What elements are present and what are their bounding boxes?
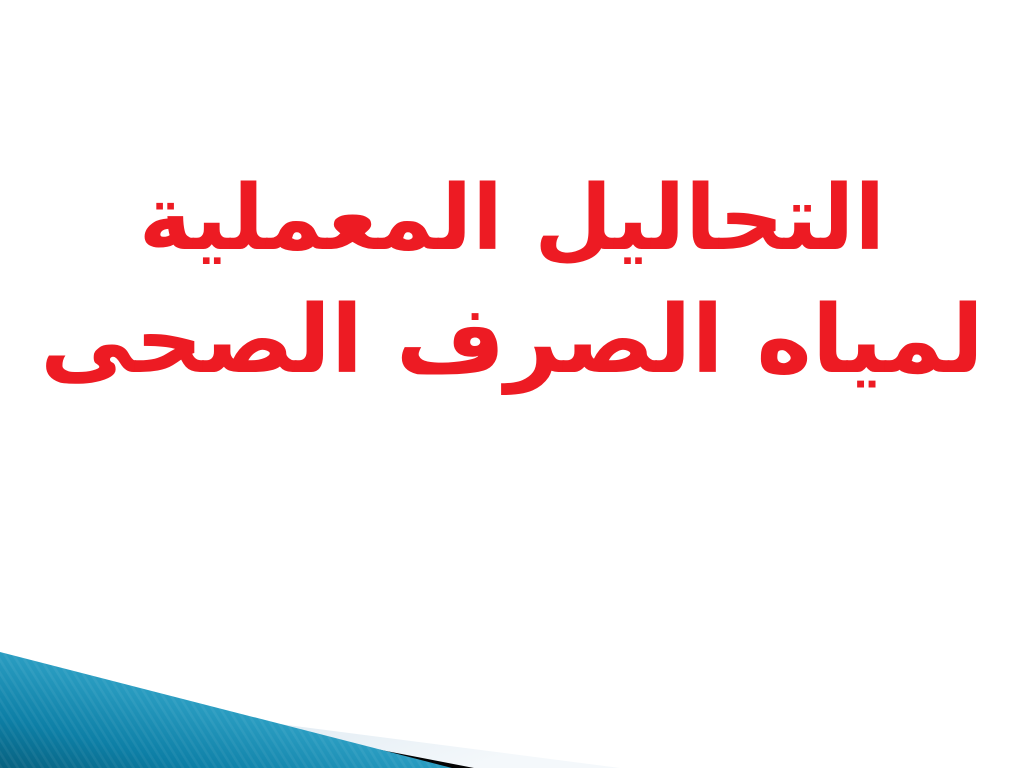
slide-title: التحاليل المعملية لمياه الصرف الصحى (0, 160, 1024, 403)
black-wedge (0, 676, 474, 768)
bottom-left-decoration (0, 636, 700, 768)
title-line-2: لمياه الصرف الصحى (0, 279, 1024, 403)
teal-wedge (0, 652, 452, 768)
title-line-1: التحاليل المعملية (0, 160, 1024, 279)
slide-canvas: التحاليل المعملية لمياه الصرف الصحى (0, 0, 1024, 768)
pale-blue-wedge (0, 688, 620, 768)
